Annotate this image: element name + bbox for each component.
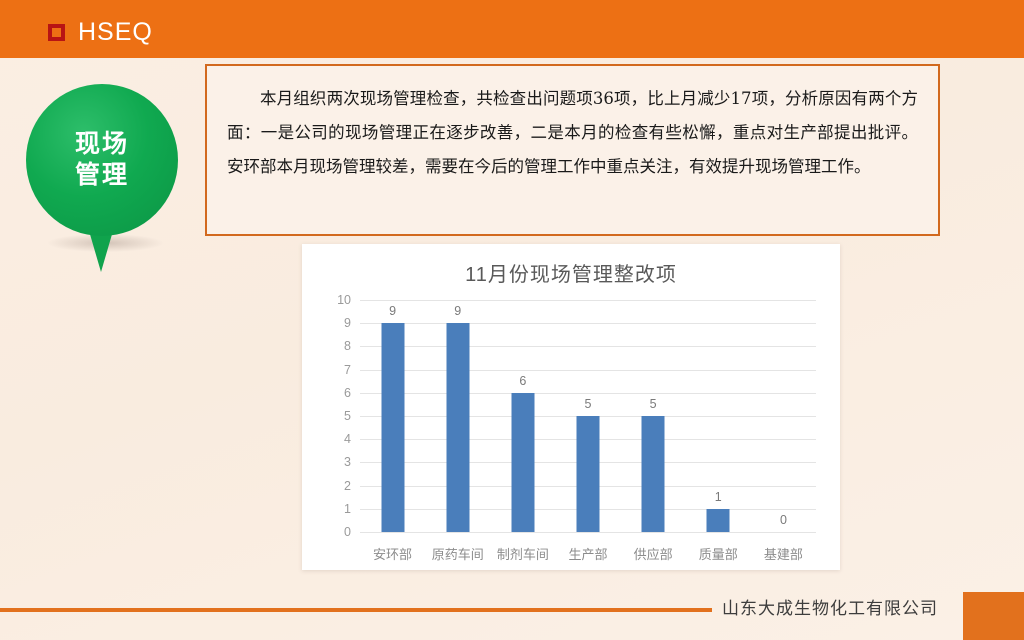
header-bar: HSEQ	[0, 0, 1024, 58]
chart-gridline	[360, 393, 816, 394]
badge-label-line2: 管理	[75, 160, 129, 191]
section-badge: 现场 管理	[26, 84, 186, 274]
chart-x-tick-label: 供应部	[634, 544, 673, 563]
chart-gridline	[360, 532, 816, 533]
chart-y-tick-label: 2	[344, 479, 351, 493]
chart-title: 11月份现场管理整改项	[302, 258, 840, 287]
chart-bar[interactable]	[511, 393, 534, 532]
chart-x-tick-label: 原药车间	[432, 544, 484, 563]
chart-y-tick-label: 3	[344, 455, 351, 469]
chart-gridline	[360, 370, 816, 371]
page-title: HSEQ	[78, 18, 153, 47]
chart-y-tick-label: 1	[344, 502, 351, 516]
chart-y-tick-label: 7	[344, 363, 351, 377]
chart-panel: 11月份现场管理整改项 0123456789109安环部9原药车间6制剂车间5生…	[302, 244, 840, 570]
chart-x-tick-label: 质量部	[699, 544, 738, 563]
badge-label-line1: 现场	[75, 129, 129, 160]
chart-bar-value-label: 0	[780, 513, 787, 527]
chart-bar-value-label: 5	[585, 397, 592, 411]
chart-bar-value-label: 1	[715, 490, 722, 504]
chart-bar-value-label: 5	[650, 397, 657, 411]
chart-bar-value-label: 6	[519, 374, 526, 388]
chart-bar-value-label: 9	[454, 304, 461, 318]
footer-rule	[0, 608, 712, 612]
chart-x-tick-label: 生产部	[568, 544, 607, 563]
chart-bar[interactable]	[707, 509, 730, 532]
summary-textbox: 本月组织两次现场管理检查，共检查出问题项36项，比上月减少17项，分析原因有两个…	[205, 64, 940, 236]
chart-gridline	[360, 323, 816, 324]
chart-x-tick-label: 基建部	[764, 544, 803, 563]
chart-bar[interactable]	[446, 323, 469, 532]
chart-bar[interactable]	[642, 416, 665, 532]
badge-circle: 现场 管理	[26, 84, 178, 236]
chart-bar[interactable]	[381, 323, 404, 532]
chart-plot-area: 0123456789109安环部9原药车间6制剂车间5生产部5供应部1质量部0基…	[360, 300, 816, 532]
chart-y-tick-label: 8	[344, 339, 351, 353]
summary-text: 本月组织两次现场管理检查，共检查出问题项36项，比上月减少17项，分析原因有两个…	[227, 82, 918, 184]
chart-y-tick-label: 9	[344, 316, 351, 330]
chart-bar-value-label: 9	[389, 304, 396, 318]
chart-y-tick-label: 6	[344, 386, 351, 400]
footer-company-name: 山东大成生物化工有限公司	[722, 594, 938, 619]
square-bullet-icon	[48, 24, 65, 41]
chart-y-tick-label: 10	[337, 293, 351, 307]
chart-gridline	[360, 346, 816, 347]
header-title-group: HSEQ	[48, 18, 153, 47]
chart-y-tick-label: 5	[344, 409, 351, 423]
footer-accent-block	[963, 592, 1024, 640]
chart-x-tick-label: 制剂车间	[497, 544, 549, 563]
chart-bar[interactable]	[577, 416, 600, 532]
chart-y-tick-label: 4	[344, 432, 351, 446]
chart-gridline	[360, 300, 816, 301]
chart-x-tick-label: 安环部	[373, 544, 412, 563]
chart-y-tick-label: 0	[344, 525, 351, 539]
